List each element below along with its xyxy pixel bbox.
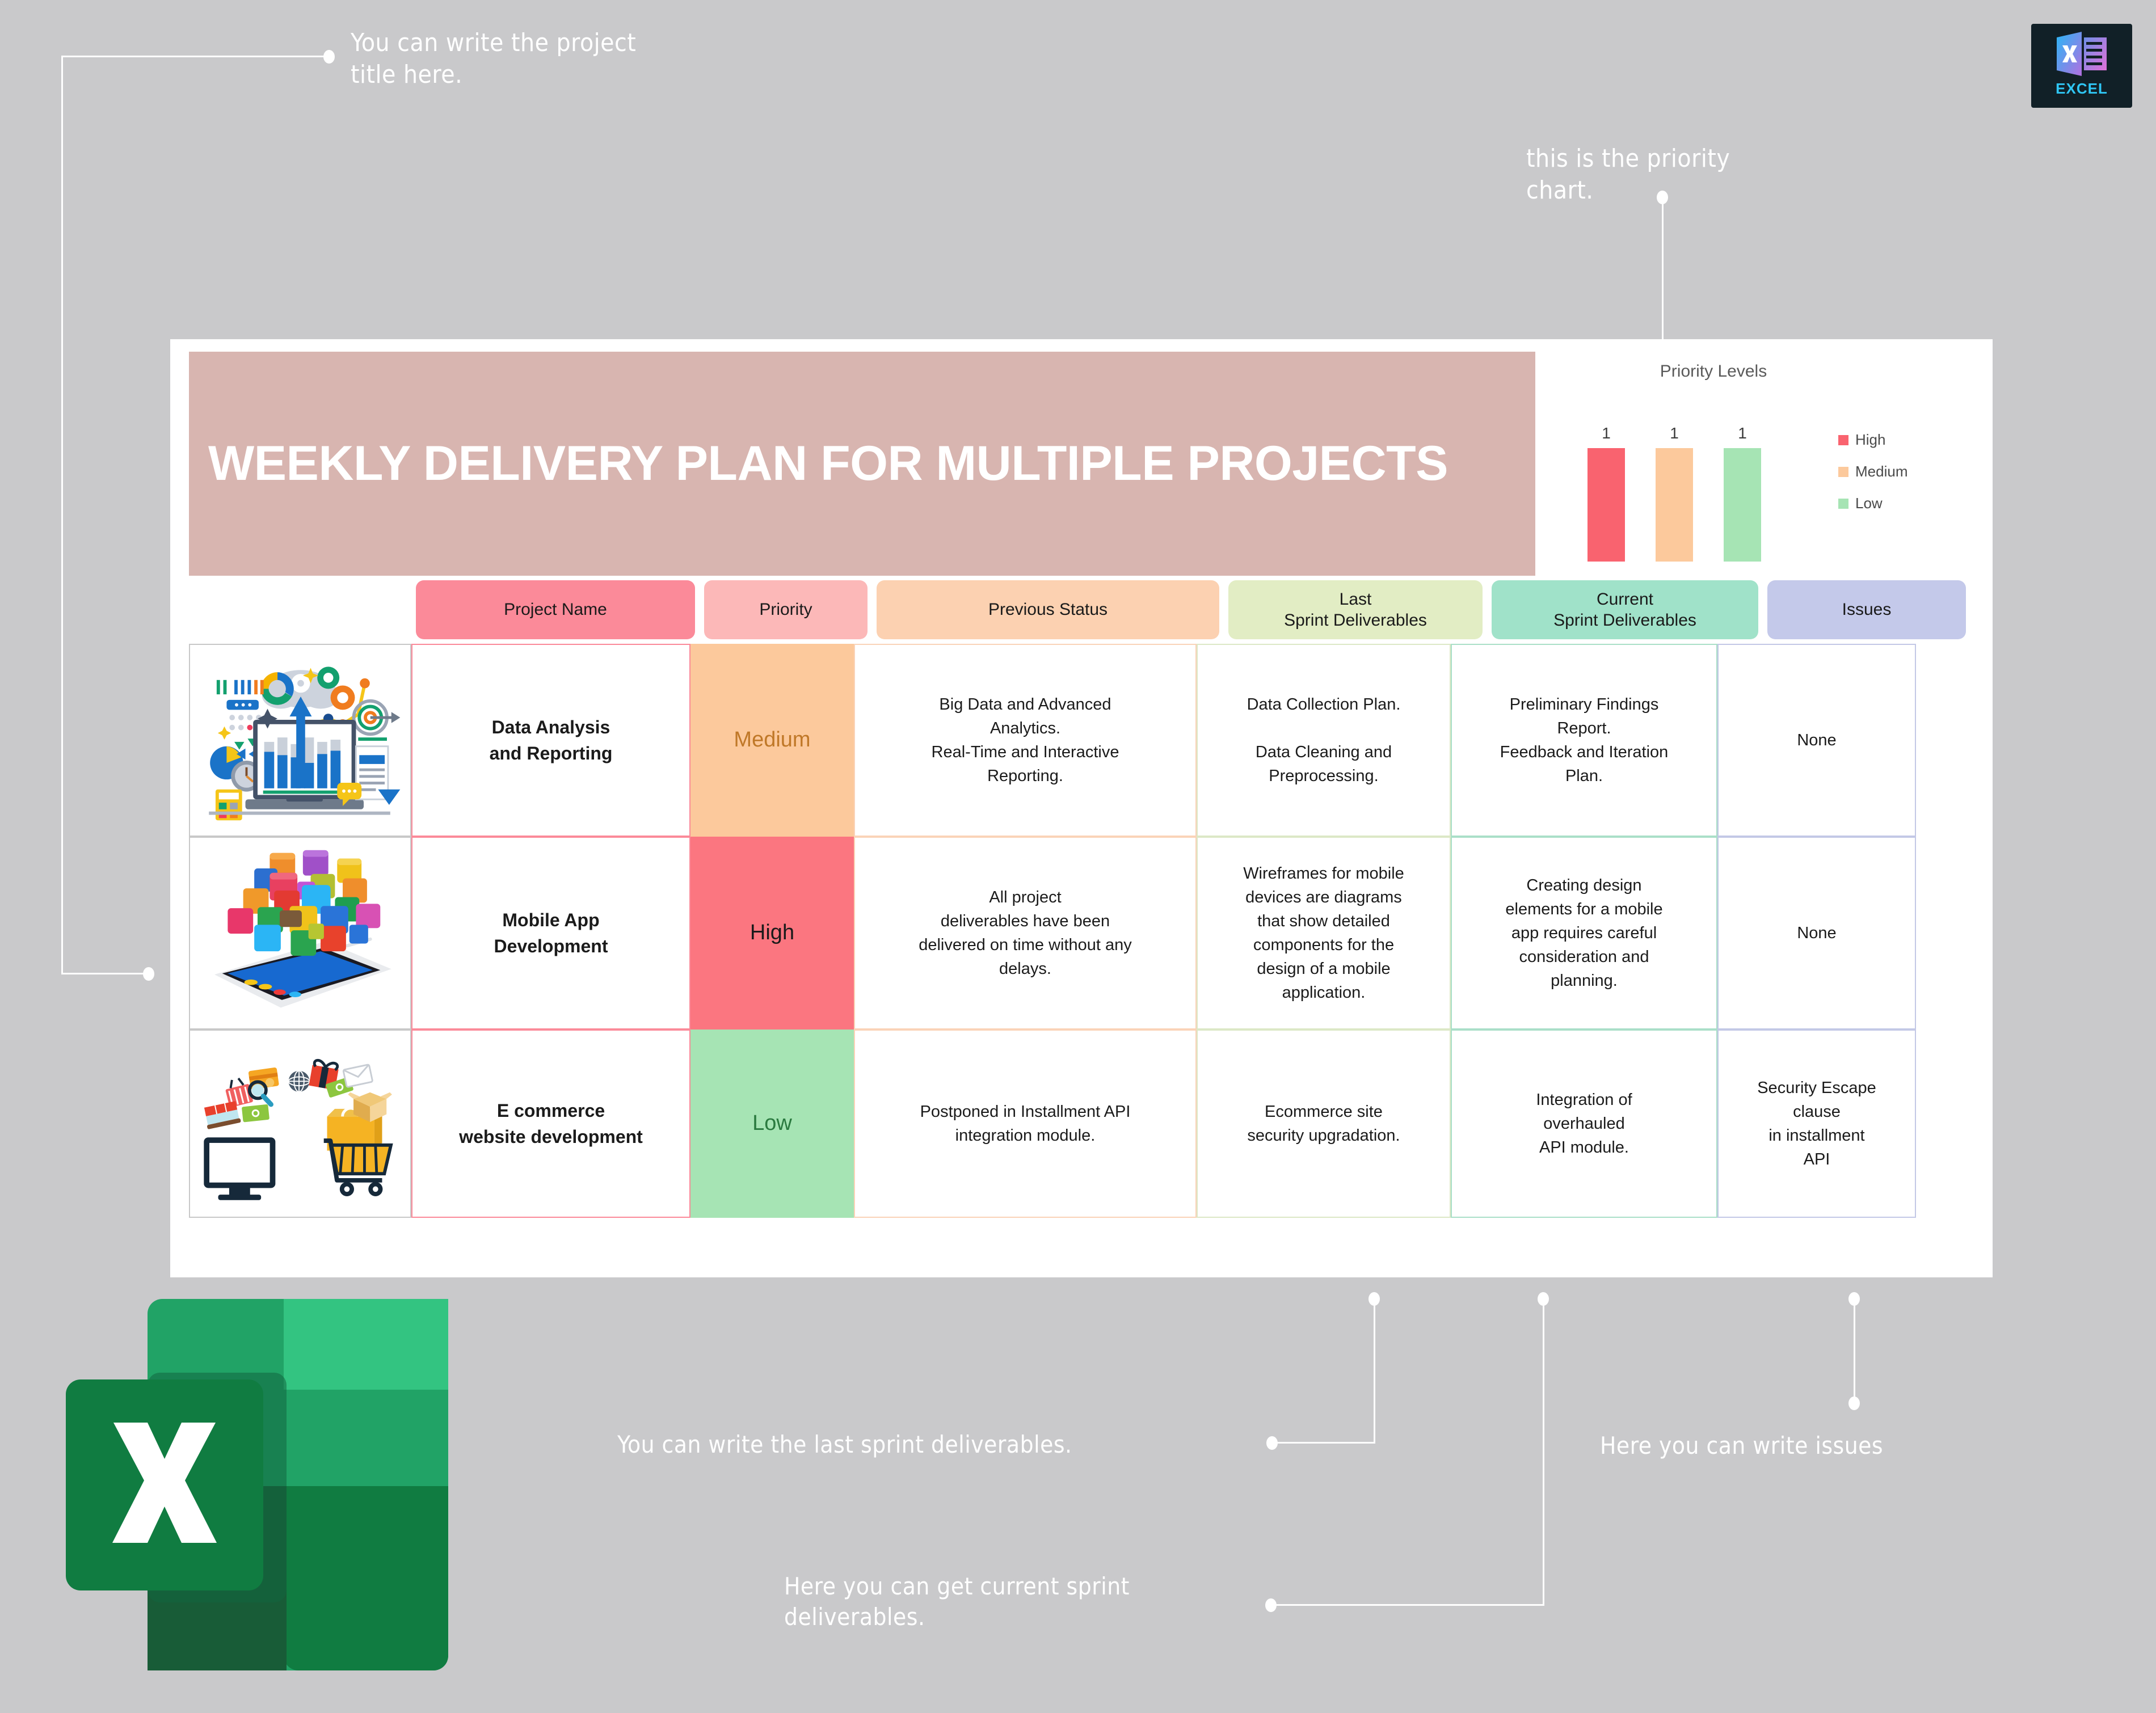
legend-item-low: Low <box>1838 495 1907 512</box>
bar-high <box>1587 448 1625 562</box>
poster-canvas: You can write the project title here. th… <box>0 0 2156 1713</box>
excel-logo-icon <box>57 1299 448 1673</box>
cell-issues: None <box>1717 644 1916 837</box>
legend-swatch-high <box>1838 435 1848 445</box>
cell-current-sprint: Preliminary Findings Report. Feedback an… <box>1451 644 1717 837</box>
cell-priority: Medium <box>690 644 854 837</box>
annotation-title-leader-bottom <box>61 973 152 974</box>
annotation-title-hint: You can write the project title here. <box>351 27 636 91</box>
annotation-current-sprint-dot-top <box>1538 1292 1549 1306</box>
bar-value-medium: 1 <box>1670 424 1679 442</box>
legend-label-medium: Medium <box>1855 463 1907 480</box>
cell-current-sprint: Creating design elements for a mobile ap… <box>1451 837 1717 1030</box>
legend-label-high: High <box>1855 431 1885 449</box>
column-header-priority[interactable]: Priority <box>704 580 868 639</box>
annotation-title-dot-bottom <box>143 967 154 981</box>
bar-medium <box>1656 448 1693 562</box>
cell-priority: High <box>690 837 854 1030</box>
annotation-current-sprint-leader-v <box>1543 1299 1544 1605</box>
annotation-chart-leader-vertical <box>1662 199 1664 357</box>
annotation-current-sprint-hint: Here you can get current sprint delivera… <box>784 1571 1130 1632</box>
annotation-last-sprint-leader-v <box>1374 1299 1375 1444</box>
title-banner: WEEKLY DELIVERY PLAN FOR MULTIPLE PROJEC… <box>189 352 1535 576</box>
cell-project-name: Mobile App Development <box>411 837 690 1030</box>
cell-issues: None <box>1717 837 1916 1030</box>
table-header-row: Project Name Priority Previous Status La… <box>189 580 1974 639</box>
table-row[interactable]: Mobile App Development High All project … <box>189 837 1974 1030</box>
legend-swatch-medium <box>1838 467 1848 477</box>
legend-item-medium: Medium <box>1838 463 1907 480</box>
cell-last-sprint: Ecommerce site security upgradation. <box>1197 1030 1451 1218</box>
row-thumbnail-mobile-apps <box>189 837 411 1030</box>
data-analytics-illustration-icon <box>192 647 408 833</box>
bar-group-medium: 1 <box>1656 403 1693 562</box>
annotation-last-sprint-hint: You can write the last sprint deliverabl… <box>617 1429 1072 1460</box>
bar-group-high: 1 <box>1587 403 1625 562</box>
annotation-last-sprint-dot-top <box>1368 1292 1380 1306</box>
legend-item-high: High <box>1838 431 1907 449</box>
cell-project-name: Data Analysis and Reporting <box>411 644 690 837</box>
cell-project-name: E commerce website development <box>411 1030 690 1218</box>
table-row[interactable]: Data Analysis and Reporting Medium Big D… <box>189 644 1974 837</box>
cell-last-sprint: Data Collection Plan. Data Cleaning and … <box>1197 644 1451 837</box>
annotation-issues-dot-bottom <box>1848 1396 1860 1410</box>
chart-legend: High Medium Low <box>1838 431 1907 512</box>
page-title: WEEKLY DELIVERY PLAN FOR MULTIPLE PROJEC… <box>208 436 1448 492</box>
table-row[interactable]: E commerce website development Low Postp… <box>189 1030 1974 1218</box>
ecommerce-illustration-icon <box>192 1033 408 1214</box>
annotation-issues-hint: Here you can write issues <box>1600 1431 1883 1461</box>
cell-previous-status: All project deliverables have been deliv… <box>854 837 1197 1030</box>
cell-issues: Security Escape clause in installment AP… <box>1717 1030 1916 1218</box>
excel-badge-label: EXCEL <box>2056 80 2108 98</box>
excel-icon <box>2052 29 2111 78</box>
column-header-project-name[interactable]: Project Name <box>416 580 695 639</box>
chart-plot-area: 1 1 1 <box>1587 403 1809 562</box>
bar-group-low: 1 <box>1724 403 1761 562</box>
annotation-issues-leader-v <box>1854 1299 1855 1401</box>
mobile-apps-illustration-icon <box>192 840 408 1026</box>
annotation-current-sprint-leader-h <box>1273 1604 1544 1606</box>
column-header-current-sprint[interactable]: Current Sprint Deliverables <box>1492 580 1758 639</box>
bar-value-low: 1 <box>1738 424 1747 442</box>
legend-label-low: Low <box>1855 495 1883 512</box>
annotation-last-sprint-leader-h <box>1274 1442 1375 1444</box>
cell-priority: Low <box>690 1030 854 1218</box>
annotation-title-leader-vertical <box>61 56 63 974</box>
row-thumbnail-ecommerce <box>189 1030 411 1218</box>
cell-last-sprint: Wireframes for mobile devices are diagra… <box>1197 837 1451 1030</box>
column-header-issues[interactable]: Issues <box>1767 580 1966 639</box>
plan-table: Project Name Priority Previous Status La… <box>189 580 1974 1218</box>
row-thumbnail-data-analytics <box>189 644 411 837</box>
priority-chart: Priority Levels 1 1 1 High <box>1543 352 1974 576</box>
legend-swatch-low <box>1838 499 1848 509</box>
annotation-chart-hint: this is the priority chart. <box>1526 143 1730 207</box>
cell-previous-status: Big Data and Advanced Analytics. Real-Ti… <box>854 644 1197 837</box>
plan-card: WEEKLY DELIVERY PLAN FOR MULTIPLE PROJEC… <box>170 339 1993 1277</box>
cell-current-sprint: Integration of overhauled API module. <box>1451 1030 1717 1218</box>
bar-low <box>1724 448 1761 562</box>
cell-previous-status: Postponed in Installment API integration… <box>854 1030 1197 1218</box>
header-spacer <box>189 580 411 639</box>
excel-app-badge[interactable]: EXCEL <box>2031 24 2132 108</box>
annotation-title-leader-top <box>61 56 328 57</box>
chart-title: Priority Levels <box>1543 362 1884 381</box>
bar-value-high: 1 <box>1602 424 1611 442</box>
table-body: Data Analysis and Reporting Medium Big D… <box>189 644 1974 1218</box>
column-header-previous-status[interactable]: Previous Status <box>877 580 1219 639</box>
column-header-last-sprint[interactable]: Last Sprint Deliverables <box>1228 580 1483 639</box>
